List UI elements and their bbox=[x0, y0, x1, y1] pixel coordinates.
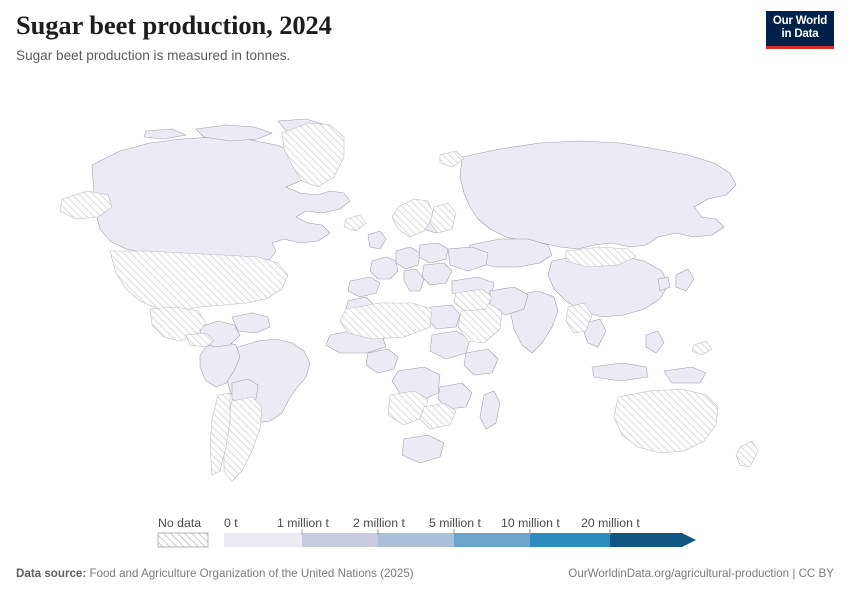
world-map-container[interactable] bbox=[0, 95, 850, 495]
data-source: Data source: Food and Agriculture Organi… bbox=[16, 565, 414, 583]
logo-red-rule bbox=[766, 46, 834, 49]
legend-bin-2[interactable] bbox=[378, 533, 454, 547]
legend-bin-1[interactable] bbox=[302, 533, 378, 547]
data-source-text: Food and Agriculture Organization of the… bbox=[86, 567, 413, 580]
country-indonesia[interactable] bbox=[592, 363, 648, 381]
logo-line-2: in Data bbox=[766, 28, 834, 41]
logo-line-1: Our World bbox=[766, 15, 834, 28]
country-pacific-islands[interactable] bbox=[692, 341, 712, 355]
country-svalbard[interactable] bbox=[440, 151, 464, 167]
legend-bin-4[interactable] bbox=[530, 533, 610, 547]
country-norway-sweden[interactable] bbox=[392, 199, 434, 237]
country-philippines[interactable] bbox=[646, 331, 664, 353]
legend-label-2: 2 million t bbox=[353, 516, 406, 530]
country-korea[interactable] bbox=[658, 277, 670, 291]
country-germany[interactable] bbox=[396, 247, 420, 269]
legend-label-4: 10 million t bbox=[501, 516, 560, 530]
chart-header: Sugar beet production, 2024 Sugar beet p… bbox=[16, 10, 746, 65]
legend-label-no-data: No data bbox=[158, 516, 201, 530]
country-venezuela[interactable] bbox=[232, 313, 270, 333]
country-united-states[interactable] bbox=[110, 251, 288, 311]
country-spain[interactable] bbox=[348, 277, 380, 297]
country-japan[interactable] bbox=[676, 269, 694, 291]
country-southafrica[interactable] bbox=[402, 435, 444, 463]
license-text: OurWorldinData.org/agricultural-producti… bbox=[568, 567, 834, 580]
chart-footer: Data source: Food and Agriculture Organi… bbox=[0, 565, 850, 589]
country-italy[interactable] bbox=[404, 269, 424, 291]
country-nigeria[interactable] bbox=[366, 349, 398, 373]
world-map-svg[interactable] bbox=[0, 95, 850, 495]
country-france[interactable] bbox=[370, 257, 398, 279]
legend-label-1: 1 million t bbox=[277, 516, 330, 530]
country-iceland[interactable] bbox=[344, 215, 366, 231]
page-title: Sugar beet production, 2024 bbox=[16, 10, 746, 40]
country-iraq-syria[interactable] bbox=[454, 289, 492, 311]
country-papua[interactable] bbox=[664, 367, 706, 383]
country-russia[interactable] bbox=[460, 141, 736, 249]
country-madagascar[interactable] bbox=[480, 391, 500, 429]
country-new-zealand[interactable] bbox=[736, 441, 758, 467]
legend-label-3: 5 million t bbox=[429, 516, 482, 530]
country-australia[interactable] bbox=[614, 389, 718, 453]
legend-svg[interactable]: No data 0 t 1 million t 2 million t 5 mi… bbox=[0, 505, 850, 555]
legend-bin-5[interactable] bbox=[610, 533, 696, 547]
data-source-label: Data source: bbox=[16, 567, 86, 580]
chart-subtitle: Sugar beet production is measured in ton… bbox=[16, 47, 746, 65]
country-balkans[interactable] bbox=[422, 263, 452, 285]
country-ukraine[interactable] bbox=[448, 247, 488, 271]
country-poland[interactable] bbox=[419, 243, 448, 263]
legend-swatch-no-data[interactable] bbox=[158, 533, 208, 547]
legend-bin-0[interactable] bbox=[224, 533, 302, 547]
map-legend[interactable]: No data 0 t 1 million t 2 million t 5 mi… bbox=[0, 505, 850, 555]
country-ethiopia[interactable] bbox=[464, 349, 498, 375]
country-uk[interactable] bbox=[368, 231, 386, 249]
country-north-africa[interactable] bbox=[340, 303, 432, 339]
country-egypt[interactable] bbox=[428, 305, 460, 329]
owid-logo[interactable]: Our World in Data bbox=[766, 11, 834, 49]
legend-bin-3[interactable] bbox=[454, 533, 530, 547]
legend-label-5: 20 million t bbox=[581, 516, 640, 530]
license-link[interactable]: OurWorldinData.org/agricultural-producti… bbox=[568, 565, 834, 583]
legend-label-0: 0 t bbox=[224, 516, 238, 530]
